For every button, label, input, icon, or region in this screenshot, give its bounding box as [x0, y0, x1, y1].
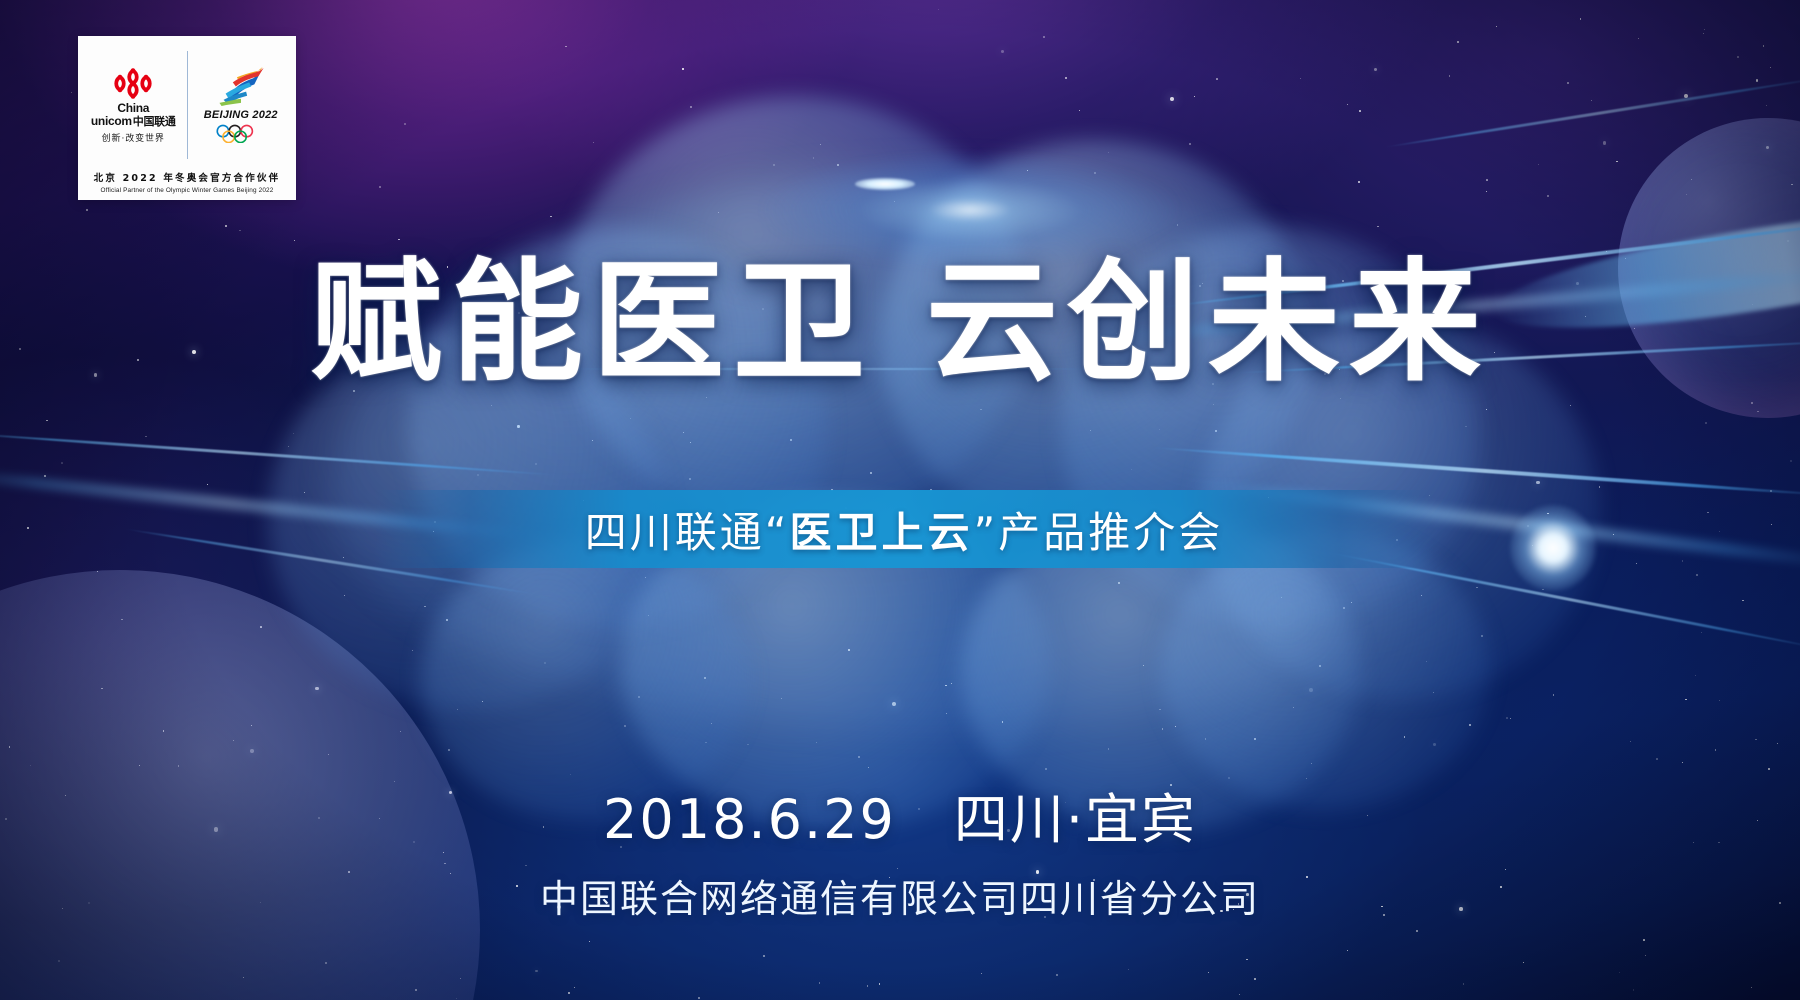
- star: [1770, 490, 1772, 492]
- star: [1771, 524, 1772, 525]
- star: [1043, 36, 1045, 38]
- star: [424, 606, 426, 608]
- star: [790, 439, 792, 441]
- star: [1696, 574, 1698, 576]
- star: [690, 442, 691, 443]
- star: [1469, 724, 1471, 726]
- subtitle-text: 四川联通“医卫上云”产品推介会: [585, 499, 1224, 560]
- star: [1194, 96, 1195, 97]
- event-date-location: 2018.6.29四川·宜宾: [0, 775, 1800, 854]
- olympic-rings-icon: [212, 124, 270, 143]
- star: [1580, 18, 1582, 20]
- star: [1293, 707, 1294, 708]
- star: [1481, 635, 1483, 637]
- star: [1715, 749, 1716, 750]
- star: [1755, 739, 1757, 741]
- star: [1416, 930, 1418, 932]
- star: [763, 955, 765, 957]
- star: [1770, 67, 1771, 68]
- lens-flare: [1510, 505, 1596, 591]
- star: [951, 683, 952, 684]
- cloud-puff: [1160, 530, 1490, 810]
- star: [1254, 978, 1256, 980]
- star: [1108, 748, 1109, 749]
- light-streak: [0, 430, 559, 476]
- sponsor-caption: 北京 2022 年冬奥会官方合作伙伴 Official Partner of t…: [86, 165, 288, 194]
- star: [1281, 597, 1282, 598]
- star: [816, 742, 817, 743]
- star: [946, 713, 947, 714]
- star: [1636, 563, 1638, 565]
- star: [1254, 738, 1256, 740]
- star: [1496, 26, 1497, 27]
- star: [1205, 738, 1207, 740]
- event-date: 2018.6.29: [603, 788, 896, 851]
- star: [550, 216, 552, 218]
- star: [1656, 758, 1658, 760]
- beijing-2022-wordmark: BEIJING 2022: [204, 109, 278, 121]
- star: [1045, 768, 1047, 770]
- star: [448, 749, 450, 751]
- star: [145, 436, 147, 438]
- star: [689, 478, 691, 480]
- sponsor-caption-cn: 北京 2022 年冬奥会官方合作伙伴: [86, 170, 288, 184]
- star: [1707, 512, 1709, 514]
- star: [747, 744, 749, 746]
- star: [1118, 582, 1120, 584]
- star: [1311, 763, 1312, 764]
- star: [1777, 743, 1778, 744]
- china-unicom-logo: China unicom中国联通 创新·改变世界: [86, 67, 187, 144]
- star: [1766, 105, 1767, 106]
- star: [1216, 78, 1218, 80]
- star: [589, 941, 590, 942]
- star: [1682, 560, 1684, 562]
- star: [1239, 994, 1240, 995]
- star: [27, 527, 29, 529]
- star: [1002, 721, 1004, 723]
- star: [1599, 486, 1600, 487]
- star: [525, 865, 527, 867]
- star: [1449, 75, 1451, 77]
- star: [1630, 741, 1631, 742]
- headline-part-1: 赋能医卫: [310, 246, 874, 400]
- star: [1246, 959, 1248, 961]
- star: [1538, 164, 1539, 165]
- star: [207, 484, 208, 485]
- star: [1208, 972, 1209, 973]
- star: [981, 973, 982, 974]
- star: [1591, 100, 1592, 101]
- star: [225, 225, 227, 227]
- star: [294, 240, 296, 242]
- star: [535, 970, 538, 973]
- star: [698, 997, 700, 999]
- star: [44, 475, 46, 477]
- star: [1486, 409, 1487, 410]
- star: [1159, 709, 1160, 710]
- star: [704, 677, 706, 679]
- sponsor-logo-lockup: China unicom中国联通 创新·改变世界 BEIJING 2022: [78, 36, 296, 200]
- star: [1175, 726, 1176, 727]
- star: [477, 474, 479, 476]
- star: [1128, 969, 1129, 970]
- star: [61, 462, 63, 464]
- star: [683, 432, 684, 433]
- star: [1465, 426, 1467, 428]
- star: [1742, 600, 1744, 602]
- star: [544, 662, 546, 664]
- headline-part-2: 云创未来: [926, 246, 1490, 400]
- star: [690, 106, 692, 108]
- star: [1347, 104, 1348, 105]
- star: [1476, 587, 1478, 589]
- star: [868, 767, 870, 769]
- star: [858, 756, 860, 758]
- star: [86, 209, 88, 211]
- star: [1613, 534, 1614, 535]
- star: [1704, 29, 1705, 30]
- star: [1763, 45, 1765, 47]
- star: [638, 696, 640, 698]
- star: [945, 685, 946, 686]
- star: [1143, 665, 1144, 666]
- star: [1343, 607, 1345, 609]
- star: [1079, 110, 1080, 111]
- sponsor-caption-en: Official Partner of the Olympic Winter G…: [86, 187, 288, 194]
- star: [892, 702, 896, 706]
- star: [870, 472, 872, 474]
- star: [1567, 82, 1569, 84]
- star: [446, 619, 447, 620]
- star: [535, 463, 537, 465]
- star: [1643, 939, 1645, 941]
- star: [938, 9, 939, 10]
- star: [1159, 429, 1161, 431]
- star: [1090, 430, 1092, 432]
- star: [645, 577, 646, 578]
- subtitle-tail: 产品推介会: [998, 499, 1223, 560]
- star: [1457, 41, 1459, 43]
- star: [239, 230, 241, 232]
- star: [1705, 422, 1707, 424]
- star: [1374, 68, 1377, 71]
- star: [1553, 694, 1555, 696]
- star: [630, 418, 631, 419]
- subtitle-banner: 四川联通“医卫上云”产品推介会: [374, 490, 1434, 568]
- star: [624, 725, 626, 727]
- star: [482, 701, 483, 702]
- subtitle-quote-open: “: [765, 508, 790, 557]
- unicom-wordmark-cn: 中国联通: [133, 117, 176, 128]
- logo-row: China unicom中国联通 创新·改变世界 BEIJING 2022: [86, 45, 288, 165]
- star: [1421, 595, 1422, 596]
- star: [1433, 692, 1434, 693]
- star: [1131, 469, 1132, 470]
- star: [1790, 460, 1792, 462]
- star: [1603, 141, 1607, 145]
- star: [568, 992, 570, 994]
- star: [517, 425, 519, 427]
- star: [457, 709, 458, 710]
- star: [819, 982, 820, 983]
- poster-canvas: China unicom中国联通 创新·改变世界 BEIJING 2022: [0, 0, 1800, 1000]
- star: [1377, 226, 1378, 227]
- star: [867, 985, 869, 987]
- star: [1056, 974, 1058, 976]
- star: [1695, 675, 1696, 676]
- star: [592, 440, 593, 441]
- star: [379, 186, 381, 188]
- star: [980, 409, 982, 411]
- star: [711, 723, 712, 724]
- unicom-wordmark-en: unicom: [91, 115, 132, 127]
- star: [1685, 699, 1686, 700]
- star: [1645, 955, 1646, 956]
- star: [574, 987, 575, 988]
- star: [1768, 768, 1770, 770]
- star: [1719, 531, 1720, 532]
- star: [1351, 602, 1352, 603]
- star: [1682, 762, 1683, 763]
- star: [1638, 38, 1640, 40]
- star: [1737, 56, 1739, 58]
- subtitle-lead: 四川联通: [585, 499, 765, 560]
- beijing-2022-emblem-icon: [210, 67, 272, 107]
- star: [1619, 972, 1620, 973]
- star: [1001, 50, 1004, 53]
- china-unicom-knot-icon: [110, 67, 156, 101]
- star: [1309, 688, 1313, 692]
- star: [593, 142, 595, 144]
- unicom-wordmark-line2: unicom中国联通: [91, 115, 176, 128]
- star: [344, 595, 345, 596]
- star: [565, 46, 567, 48]
- star: [398, 239, 400, 241]
- star: [848, 649, 850, 651]
- star: [1170, 97, 1174, 101]
- star: [1300, 78, 1301, 79]
- light-burst-core: [855, 178, 915, 190]
- star: [820, 144, 822, 146]
- star: [1547, 195, 1549, 197]
- star: [1684, 94, 1688, 98]
- star: [1633, 989, 1635, 991]
- star: [304, 492, 305, 493]
- poster-headline: 赋能医卫云创未来: [0, 252, 1800, 395]
- star: [1433, 743, 1437, 747]
- star: [1701, 632, 1703, 634]
- star: [682, 68, 683, 69]
- star: [718, 212, 719, 213]
- star: [1189, 143, 1191, 145]
- star: [1510, 718, 1511, 719]
- star: [1756, 79, 1758, 81]
- event-organizer: 中国联合网络通信有限公司四川省分公司: [0, 868, 1800, 923]
- star: [1319, 665, 1321, 667]
- star: [412, 650, 413, 651]
- star: [491, 405, 492, 406]
- star: [1404, 736, 1406, 738]
- event-location: 四川·宜宾: [954, 788, 1197, 851]
- star: [1426, 661, 1427, 662]
- star: [1751, 987, 1753, 989]
- star: [71, 92, 72, 93]
- star: [1536, 481, 1540, 485]
- star: [781, 698, 782, 699]
- star: [293, 433, 294, 434]
- star: [1347, 950, 1349, 952]
- star: [288, 446, 290, 448]
- star: [343, 557, 344, 558]
- star: [46, 420, 47, 421]
- star: [1213, 404, 1214, 405]
- star: [1463, 983, 1465, 985]
- star: [1162, 728, 1164, 730]
- star: [1215, 430, 1217, 432]
- star: [1523, 962, 1524, 963]
- star: [404, 123, 406, 125]
- star: [1065, 77, 1067, 79]
- star: [1506, 717, 1508, 719]
- star: [879, 983, 881, 985]
- star: [1703, 33, 1704, 34]
- star: [1358, 181, 1360, 183]
- star: [1719, 700, 1720, 701]
- beijing-2022-logo: BEIJING 2022: [188, 67, 289, 143]
- unicom-slogan: 创新·改变世界: [102, 131, 165, 144]
- star: [1486, 191, 1488, 193]
- star: [648, 615, 649, 616]
- star: [1359, 110, 1361, 112]
- star: [1570, 405, 1572, 407]
- unicom-wordmark-line1: China: [117, 102, 149, 114]
- star: [1486, 179, 1488, 181]
- star: [705, 742, 707, 744]
- subtitle-quote-close: ”: [974, 508, 999, 557]
- star: [1616, 161, 1617, 162]
- subtitle-quoted-term: 医卫上云: [789, 499, 973, 560]
